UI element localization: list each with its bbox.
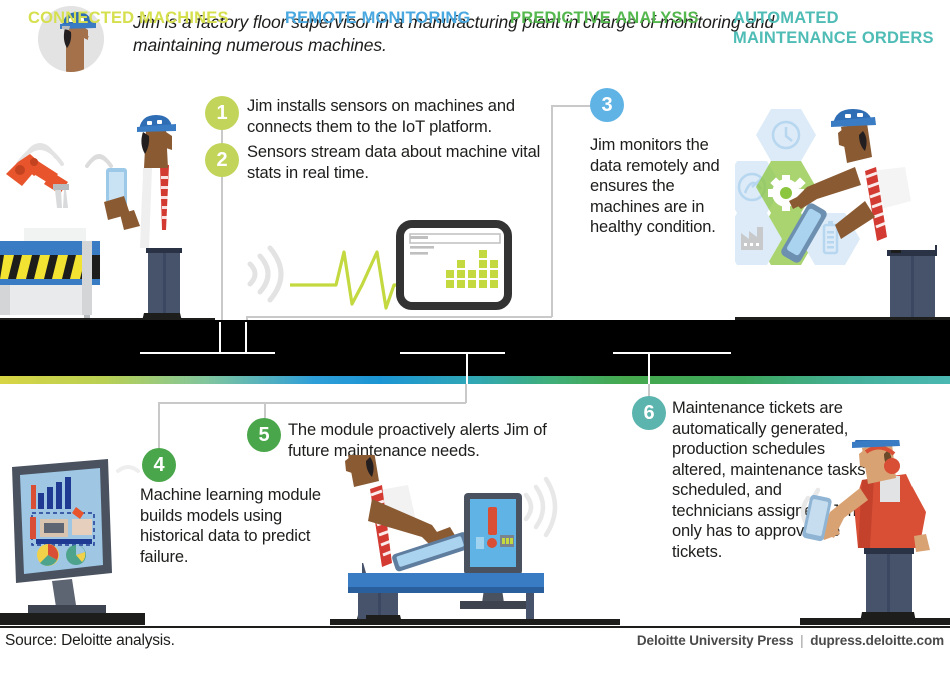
connector-step4 <box>158 402 160 450</box>
category-remote-monitoring: REMOTE MONITORING <box>285 9 471 29</box>
desktop-dashboard-illustration <box>0 455 145 625</box>
remote-monitoring-illustration <box>735 105 950 322</box>
category-automated-maintenance-orders: AUTOMATED MAINTENANCE ORDERS <box>733 9 950 48</box>
banner-rule-1 <box>140 352 275 354</box>
gradient-bar <box>0 376 950 384</box>
banner-rule-3 <box>613 352 731 354</box>
wifi-signal-icon <box>250 248 281 300</box>
category-predictive-analysis: PREDICTIVE ANALYSIS <box>510 9 699 29</box>
footer-divider <box>0 626 950 628</box>
worker-with-tablet-icon <box>87 115 192 321</box>
step-number-1: 1 <box>205 96 239 130</box>
realtime-data-illustration <box>238 212 513 322</box>
connector-bottom-riser <box>465 383 467 403</box>
category-line-1: CONNECTED MACHINES <box>28 9 229 27</box>
connector-bottom-rail <box>158 402 466 404</box>
publisher-name: Deloitte University Press <box>637 633 794 648</box>
category-connected-machines: CONNECTED MACHINES <box>28 9 229 29</box>
banner-tick-1 <box>219 322 221 352</box>
step-text-3: Jim monitors the data remotely and ensur… <box>590 135 720 238</box>
desktop-dashboard-icon <box>12 459 112 613</box>
step-number-2: 2 <box>205 143 239 177</box>
step-number-3: 3 <box>590 88 624 122</box>
connector-step3-top <box>552 105 592 107</box>
category-line-4: AUTOMATED MAINTENANCE ORDERS <box>733 9 934 47</box>
step-number-5: 5 <box>247 418 281 452</box>
connected-machines-illustration <box>0 110 215 322</box>
credit-separator: | <box>797 633 806 648</box>
banner-tick-3 <box>466 352 468 384</box>
technician-with-phone-icon <box>802 440 930 622</box>
step-number-6: 6 <box>632 396 666 430</box>
infographic-canvas: Jim is a factory floor supervisor in a m… <box>0 0 950 684</box>
source-text: Source: Deloitte analysis. <box>5 632 175 650</box>
step-text-4: Machine learning module builds models us… <box>140 485 340 567</box>
technician-illustration <box>800 440 950 625</box>
conveyor-machine-icon <box>0 228 100 321</box>
banner-tick-4 <box>648 352 650 384</box>
banner-tick-2 <box>245 322 247 352</box>
category-line-2: REMOTE MONITORING <box>285 9 471 27</box>
category-line-3: PREDICTIVE ANALYSIS <box>510 9 699 27</box>
hexagon-clock-icon <box>756 109 816 161</box>
banner-rule-2 <box>400 352 505 354</box>
step-text-1: Jim installs sensors on machines and con… <box>247 96 557 137</box>
worker-at-kiosk-icon <box>338 455 471 623</box>
step-number-4: 4 <box>142 448 176 482</box>
tablet-dashboard-icon <box>400 224 508 306</box>
step-text-2: Sensors stream data about machine vital … <box>247 142 557 183</box>
wifi-signal-icon <box>526 479 555 535</box>
publisher-credit: Deloitte University Press | dupress.delo… <box>637 633 944 648</box>
connector-step3-vert <box>551 105 553 317</box>
category-banner <box>0 320 950 376</box>
publisher-url[interactable]: dupress.deloitte.com <box>810 633 944 648</box>
predictive-alert-illustration <box>330 455 620 625</box>
